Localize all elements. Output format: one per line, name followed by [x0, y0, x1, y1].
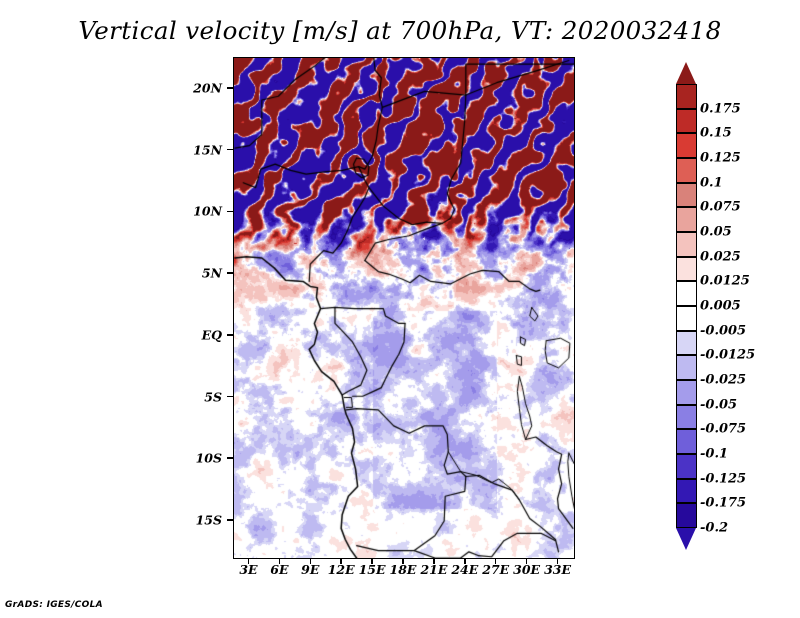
colorbar-swatch	[676, 454, 697, 479]
colorbar-swatch	[676, 207, 697, 232]
colorbar-swatch	[676, 133, 697, 158]
y-axis-label: EQ	[0, 327, 222, 342]
colorbar-swatch	[676, 331, 697, 356]
colorbar	[676, 62, 697, 550]
x-axis-label: 18E	[390, 562, 417, 577]
y-axis-label: 15S	[0, 512, 222, 527]
vertical-velocity-field	[234, 58, 574, 558]
colorbar-tick-label: 0.175	[700, 101, 741, 116]
x-axis-label: 15E	[359, 562, 386, 577]
colorbar-swatch	[676, 232, 697, 257]
y-axis-tick	[227, 149, 233, 151]
colorbar-tick-label: 0.025	[700, 249, 741, 264]
colorbar-tick-label: -0.0125	[700, 348, 755, 363]
colorbar-tick-label: 0.15	[700, 126, 732, 141]
colorbar-tick-label: -0.005	[700, 323, 746, 338]
colorbar-swatch	[676, 257, 697, 282]
y-axis-label: 10N	[0, 204, 222, 219]
y-axis-tick	[227, 211, 233, 213]
colorbar-tick-label: 0.125	[700, 151, 741, 166]
y-axis-label: 5N	[0, 266, 222, 281]
colorbar-swatch	[676, 84, 697, 109]
grads-credit: GrADS: IGES/COLA	[5, 600, 103, 610]
colorbar-tick-label: -0.125	[700, 471, 746, 486]
y-axis-label: 20N	[0, 80, 222, 95]
colorbar-tick-label: 0.05	[700, 225, 732, 240]
colorbar-swatch	[676, 183, 697, 208]
colorbar-under-arrow	[676, 528, 696, 550]
y-axis-label: 10S	[0, 451, 222, 466]
colorbar-swatch	[676, 109, 697, 134]
colorbar-tick-label: -0.2	[700, 521, 728, 536]
grads-figure: Vertical velocity [m/s] at 700hPa, VT: 2…	[0, 0, 800, 618]
x-axis-label: 21E	[420, 562, 447, 577]
colorbar-swatch	[676, 158, 697, 183]
colorbar-tick-label: 0.075	[700, 200, 741, 215]
x-axis-label: 30E	[513, 562, 540, 577]
colorbar-tick-label: -0.175	[700, 496, 746, 511]
page-title: Vertical velocity [m/s] at 700hPa, VT: 2…	[0, 16, 800, 45]
colorbar-swatch	[676, 405, 697, 430]
x-axis-label: 6E	[270, 562, 288, 577]
colorbar-swatch	[676, 306, 697, 331]
colorbar-tick-label: -0.075	[700, 422, 746, 437]
x-axis-label: 27E	[482, 562, 509, 577]
y-axis-tick	[227, 272, 233, 274]
colorbar-tick-label: -0.05	[700, 397, 737, 412]
colorbar-tick-label: 0.1	[700, 175, 723, 190]
colorbar-swatch	[676, 503, 697, 528]
colorbar-tick-label: 0.0125	[700, 274, 750, 289]
colorbar-tick-label: -0.1	[700, 447, 728, 462]
colorbar-swatch	[676, 281, 697, 306]
y-axis-label: 15N	[0, 142, 222, 157]
y-axis-tick	[227, 519, 233, 521]
x-axis-label: 3E	[239, 562, 257, 577]
x-axis-label: 33E	[544, 562, 571, 577]
y-axis-tick	[227, 396, 233, 398]
colorbar-swatch	[676, 355, 697, 380]
colorbar-swatch	[676, 380, 697, 405]
y-axis-tick	[227, 87, 233, 89]
colorbar-tick-label: 0.005	[700, 299, 741, 314]
colorbar-swatch	[676, 479, 697, 504]
y-axis-tick	[227, 334, 233, 336]
map-plot-area	[233, 57, 575, 559]
x-axis-label: 9E	[301, 562, 319, 577]
y-axis-label: 5S	[0, 389, 222, 404]
colorbar-over-arrow	[676, 62, 696, 84]
x-axis-label: 12E	[328, 562, 355, 577]
colorbar-tick-label: -0.025	[700, 373, 746, 388]
x-axis-label: 24E	[451, 562, 478, 577]
y-axis-tick	[227, 457, 233, 459]
colorbar-swatch	[676, 429, 697, 454]
